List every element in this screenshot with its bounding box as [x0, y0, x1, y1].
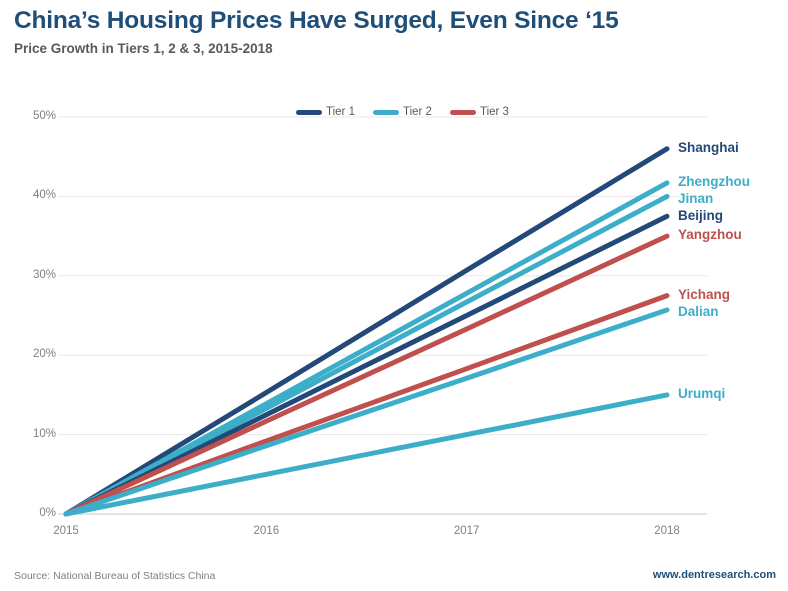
- series-line[interactable]: [66, 216, 667, 514]
- series-label: Jinan: [678, 192, 713, 206]
- chart-legend: Tier 1Tier 2Tier 3: [296, 106, 509, 118]
- chart-subtitle: Price Growth in Tiers 1, 2 & 3, 2015-201…: [14, 41, 784, 56]
- y-axis-tick-label: 30%: [10, 270, 56, 282]
- legend-item[interactable]: Tier 3: [450, 106, 509, 118]
- chart-header: China’s Housing Prices Have Surged, Even…: [14, 8, 784, 56]
- series-label: Shanghai: [678, 141, 739, 155]
- series-line[interactable]: [66, 236, 667, 514]
- legend-item[interactable]: Tier 1: [296, 106, 355, 118]
- legend-item-label: Tier 3: [480, 106, 509, 118]
- page-title: China’s Housing Prices Have Surged, Even…: [14, 8, 784, 35]
- series-label: Dalian: [678, 305, 719, 319]
- x-axis-tick-label: 2016: [236, 526, 296, 538]
- website-link[interactable]: www.dentresearch.com: [653, 569, 776, 581]
- y-axis-tick-label: 0%: [10, 508, 56, 520]
- series-label: Urumqi: [678, 387, 725, 401]
- legend-swatch: [450, 110, 476, 115]
- x-axis-tick-label: 2018: [637, 526, 697, 538]
- legend-swatch: [373, 110, 399, 115]
- legend-item-label: Tier 1: [326, 106, 355, 118]
- legend-item[interactable]: Tier 2: [373, 106, 432, 118]
- series-label: Zhengzhou: [678, 175, 750, 189]
- chart-card: China’s Housing Prices Have Surged, Even…: [0, 0, 788, 591]
- source-note: Source: National Bureau of Statistics Ch…: [14, 570, 215, 582]
- y-axis-tick-label: 20%: [10, 349, 56, 361]
- legend-swatch: [296, 110, 322, 115]
- legend-item-label: Tier 2: [403, 106, 432, 118]
- plot-area: [0, 96, 788, 536]
- x-axis-tick-label: 2017: [437, 526, 497, 538]
- series-label: Beijing: [678, 209, 723, 223]
- line-chart-svg: [0, 96, 788, 536]
- x-axis-tick-label: 2015: [36, 526, 96, 538]
- series-lines: [66, 149, 667, 514]
- series-line[interactable]: [66, 149, 667, 514]
- series-label: Yichang: [678, 288, 730, 302]
- series-label: Yangzhou: [678, 228, 742, 242]
- y-axis-tick-label: 40%: [10, 190, 56, 202]
- y-axis-tick-label: 10%: [10, 429, 56, 441]
- y-axis-tick-label: 50%: [10, 111, 56, 123]
